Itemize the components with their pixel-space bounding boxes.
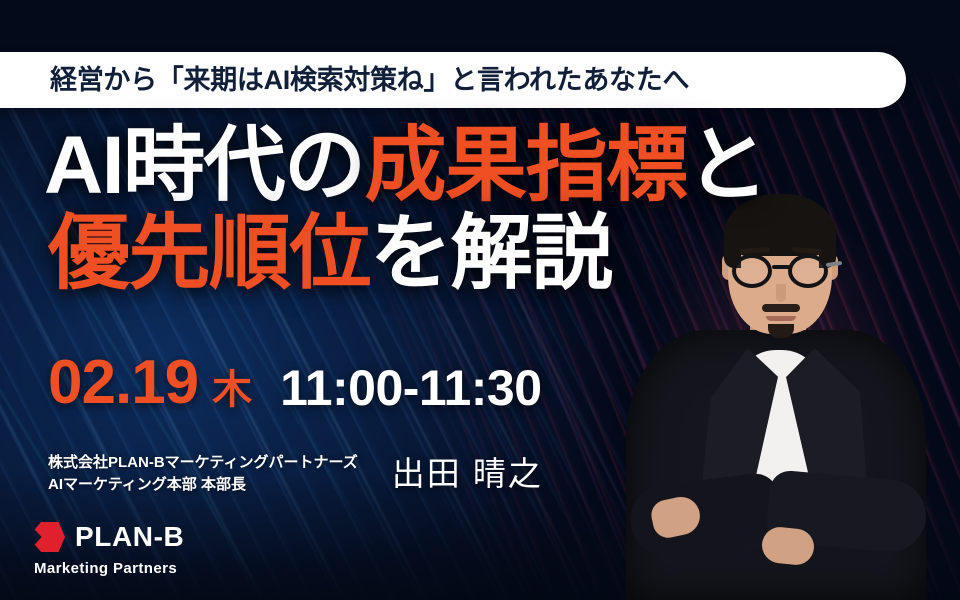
event-day-of-week: 木 xyxy=(212,370,252,410)
speaker-org-line-1: 株式会社PLAN-Bマーケティングパートナーズ xyxy=(48,452,358,474)
plan-b-hexagon-icon xyxy=(32,522,66,552)
headline-pill: 経営から「来期はAI検索対策ね」と言われたあなたへ xyxy=(0,52,906,108)
headline-line-1: AI時代の成果指標と xyxy=(44,126,767,206)
logo-top-row: PLAN-B xyxy=(32,522,184,552)
speaker-organization: 株式会社PLAN-Bマーケティングパートナーズ AIマーケティング本部 本部長 xyxy=(48,452,358,496)
logo-tagline: Marketing Partners xyxy=(34,561,184,576)
headline-line1-accent: 成果指標 xyxy=(365,120,687,211)
headline: AI時代の成果指標と 優先順位を解説 xyxy=(44,126,767,295)
speaker-name: 出田 晴之 xyxy=(392,457,543,490)
headline-line2-accent: 優先順位 xyxy=(48,208,370,299)
glasses-bridge xyxy=(772,265,790,269)
headline-line2-suffix: を解説 xyxy=(370,208,612,299)
speaker-org-line-2: AIマーケティング本部 本部長 xyxy=(48,474,358,496)
presenter-mustache xyxy=(762,304,800,312)
presenter-goatee xyxy=(768,324,794,338)
event-date: 02.19 xyxy=(48,352,198,414)
glasses-lens-right xyxy=(788,254,828,288)
plan-b-logo: PLAN-B Marketing Partners xyxy=(32,522,184,576)
headline-line1-prefix: AI時代の xyxy=(44,120,365,211)
pill-text: 経営から「来期はAI検索対策ね」と言われたあなたへ xyxy=(50,67,689,94)
logo-wordmark: PLAN-B xyxy=(75,523,184,551)
headline-line1-suffix: と xyxy=(687,120,768,211)
schedule-row: 02.19 木 11:00-11:30 xyxy=(48,352,542,414)
speaker-block: 株式会社PLAN-Bマーケティングパートナーズ AIマーケティング本部 本部長 … xyxy=(48,452,543,496)
presenter-mouth xyxy=(766,316,796,321)
webinar-banner: 経営から「来期はAI検索対策ね」と言われたあなたへ AI時代の成果指標と 優先順… xyxy=(0,0,960,600)
headline-line-2: 優先順位を解説 xyxy=(48,214,767,294)
event-time: 11:00-11:30 xyxy=(280,363,541,413)
